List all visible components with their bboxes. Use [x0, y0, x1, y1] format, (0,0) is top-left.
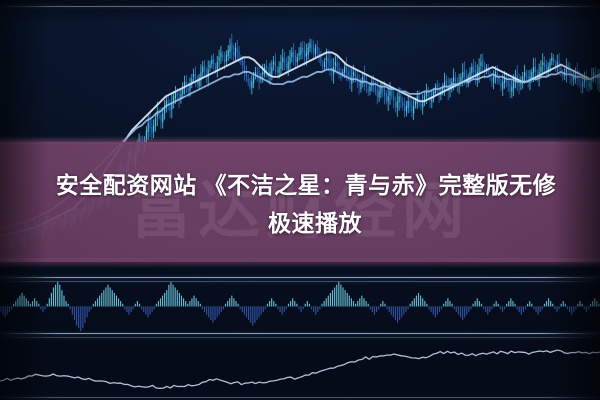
- separator-line-macd-top-2: [0, 281, 600, 282]
- separator-line-top: [0, 6, 600, 7]
- caption-text-block: 安全配资网站 《不洁之星：青与赤》完整版无修 极速播放: [0, 152, 600, 256]
- separator-line-macd-bottom: [0, 333, 600, 334]
- indicator-line-plot: [0, 336, 600, 400]
- indicator-line-panel: [0, 336, 600, 400]
- caption-line-2: 极速播放: [238, 208, 362, 238]
- separator-line-line-top: [0, 337, 600, 338]
- separator-line-bottom: [0, 397, 600, 398]
- caption-line-1: 安全配资网站 《不洁之星：青与赤》完整版无修: [44, 170, 556, 200]
- macd-histogram-panel: [0, 279, 600, 334]
- trading-chart-screenshot: 富达财经网 安全配资网站 《不洁之星：青与赤》完整版无修 极速播放: [0, 0, 600, 400]
- caption-band-fade-bottom: [0, 258, 600, 268]
- separator-line-macd-top: [0, 277, 600, 278]
- macd-plot: [0, 279, 600, 334]
